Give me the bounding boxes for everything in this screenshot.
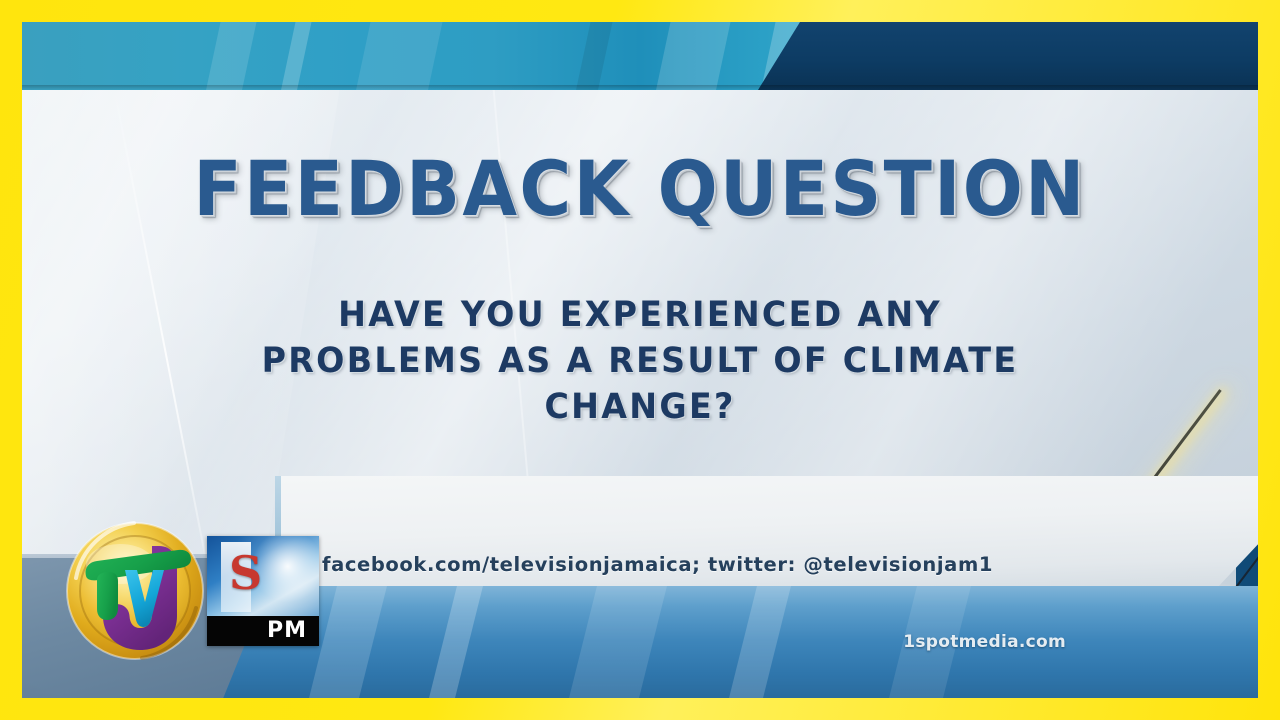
bottom-band-ray bbox=[720, 586, 799, 698]
header-band bbox=[22, 22, 1258, 90]
graphic-stage: facebook.com/televisionjamaica; twitter:… bbox=[22, 22, 1258, 698]
source-watermark: 1spotmedia.com bbox=[903, 632, 1066, 652]
bottom-band-ray bbox=[420, 586, 491, 698]
tvj-logo bbox=[64, 520, 206, 662]
question-line-1: HAVE YOU EXPERIENCED ANY bbox=[53, 292, 1227, 338]
question-line-3: CHANGE? bbox=[53, 384, 1227, 430]
page-title: FEEDBACK QUESTION bbox=[65, 144, 1214, 233]
header-band-navy bbox=[758, 22, 1258, 90]
bottom-band-ray bbox=[560, 586, 675, 698]
news-bug-thumbnail: S bbox=[207, 536, 319, 616]
news-bug: S PM bbox=[207, 536, 319, 646]
news-bug-channel-glyph: S bbox=[229, 550, 262, 596]
feedback-question-text: HAVE YOU EXPERIENCED ANY PROBLEMS AS A R… bbox=[53, 292, 1227, 430]
question-line-2: PROBLEMS AS A RESULT OF CLIMATE bbox=[53, 338, 1227, 384]
news-bug-time-label: PM bbox=[207, 616, 319, 646]
logo-letter-t-stem bbox=[97, 572, 118, 620]
broadcast-graphic-frame: facebook.com/televisionjamaica; twitter:… bbox=[0, 0, 1280, 720]
social-handles-text: facebook.com/televisionjamaica; twitter:… bbox=[322, 553, 993, 576]
